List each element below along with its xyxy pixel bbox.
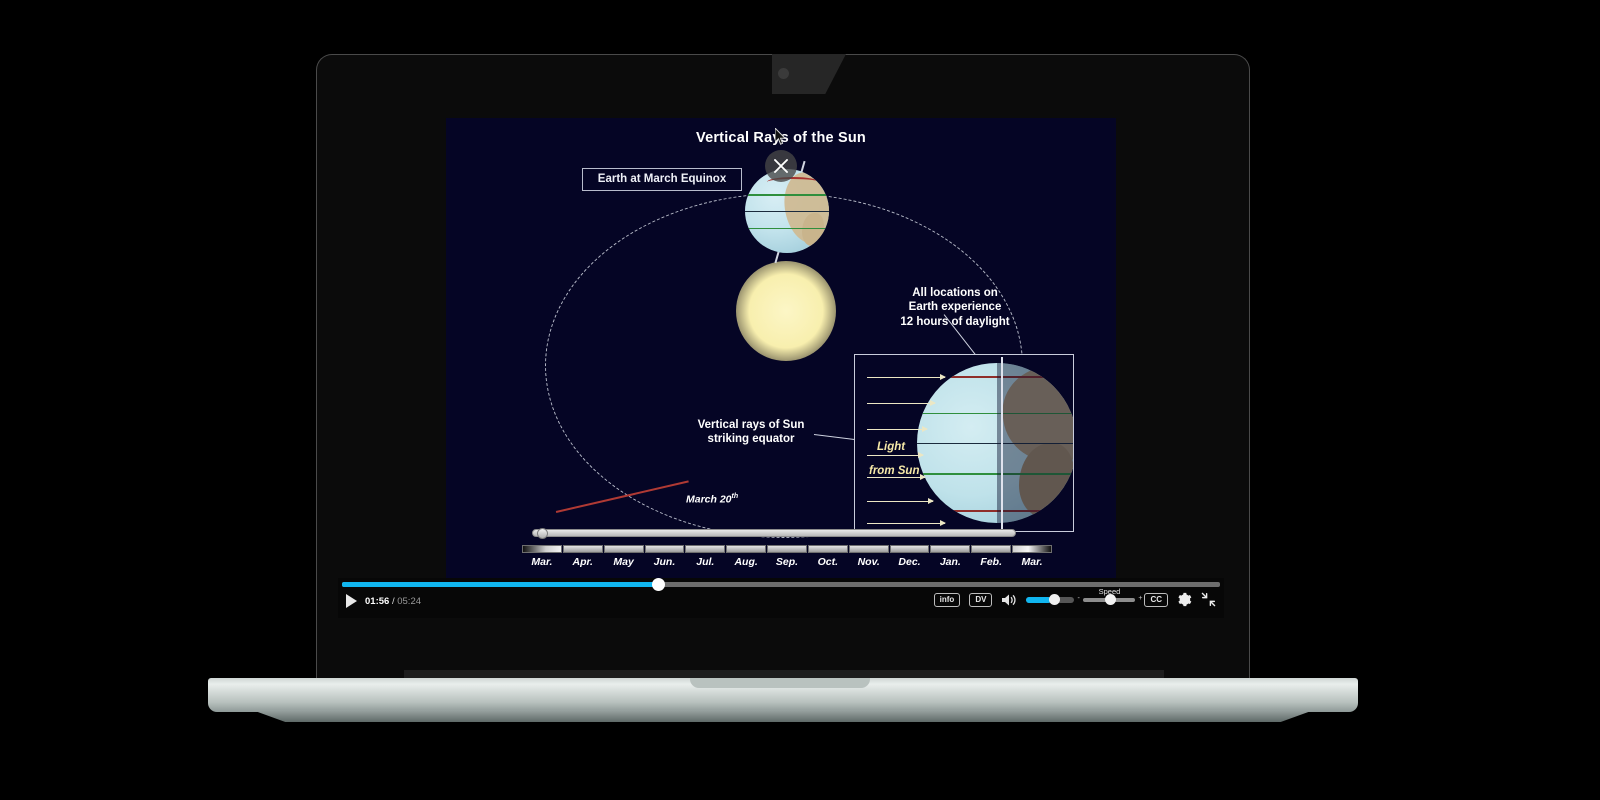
- time-total: 05:24: [397, 596, 421, 607]
- sun-graphic: [736, 261, 836, 361]
- sun-ray: [867, 455, 923, 456]
- month-label: Jan.: [930, 556, 970, 568]
- volume-slider-knob[interactable]: [1049, 594, 1060, 605]
- month-cell[interactable]: Jun.: [645, 545, 685, 568]
- progress-bar-knob[interactable]: [652, 578, 665, 591]
- inset-globe: [917, 363, 1074, 523]
- month-cell[interactable]: Sep.: [767, 545, 807, 568]
- month-label: May: [604, 556, 644, 568]
- speed-control: Speed - +: [1083, 598, 1135, 602]
- month-bar: [522, 545, 562, 553]
- sun-ray: [867, 377, 945, 378]
- month-bar: [685, 545, 725, 553]
- tropic-line-south: [745, 228, 829, 229]
- month-cell[interactable]: Jan.: [930, 545, 970, 568]
- sun-ray: [867, 501, 933, 502]
- month-bar: [563, 545, 603, 553]
- month-label: Jun.: [645, 556, 685, 568]
- month-bar: [971, 545, 1011, 553]
- month-label: Oct.: [808, 556, 848, 568]
- month-bar: [930, 545, 970, 553]
- month-strip: Mar. Apr. May Jun. Jul. Aug. Sep. Oct. N…: [522, 545, 1052, 568]
- player-left-group: 01:56 / 05:24: [346, 594, 421, 608]
- earth-globe-orbit: [745, 169, 829, 253]
- month-cell[interactable]: Apr.: [563, 545, 603, 568]
- month-bar: [645, 545, 685, 553]
- landmass-south: [802, 213, 824, 247]
- time-display: 01:56 / 05:24: [365, 596, 421, 607]
- camera-icon: [778, 68, 789, 79]
- progress-bar-filled: [342, 582, 661, 587]
- gear-icon[interactable]: [1177, 592, 1192, 607]
- light-label-line2: from Sun: [869, 465, 919, 477]
- month-bar: [604, 545, 644, 553]
- close-icon: [774, 159, 788, 173]
- month-label: Nov.: [849, 556, 889, 568]
- volume-slider[interactable]: [1026, 597, 1074, 603]
- month-label: Dec.: [890, 556, 930, 568]
- month-cell[interactable]: Oct.: [808, 545, 848, 568]
- screenshot-stage: Vertical Rays of the Sun Earth at March …: [0, 0, 1600, 800]
- month-cell[interactable]: Feb.: [971, 545, 1011, 568]
- month-label: Mar.: [522, 556, 562, 568]
- terminator-shading: [997, 363, 1074, 523]
- video-canvas: Vertical Rays of the Sun Earth at March …: [446, 118, 1116, 578]
- month-bar: [726, 545, 766, 553]
- annotation-vertical-rays: Vertical rays of Sun striking equator: [676, 418, 826, 447]
- month-label: Aug.: [726, 556, 766, 568]
- month-cell[interactable]: Mar.: [1012, 545, 1052, 568]
- fullscreen-exit-icon[interactable]: [1201, 592, 1216, 607]
- equator-line: [745, 211, 829, 212]
- month-bar: [808, 545, 848, 553]
- laptop-base-notch: [690, 678, 870, 688]
- video-player-controls: 01:56 / 05:24 info DV Speed - +: [338, 578, 1224, 618]
- laptop-base-lip: [230, 710, 1336, 722]
- player-right-group: info DV Speed - + CC: [934, 592, 1216, 607]
- volume-slider-fill: [1026, 597, 1051, 603]
- sun-ray: [867, 477, 925, 478]
- month-label: Sep.: [767, 556, 807, 568]
- timeline-marker-label: March 20th: [686, 493, 738, 506]
- inset-diagram: Light from Sun: [854, 354, 1074, 532]
- time-current: 01:56: [365, 596, 389, 607]
- month-cell[interactable]: Jul.: [685, 545, 725, 568]
- month-bar: [890, 545, 930, 553]
- month-cell[interactable]: Dec.: [890, 545, 930, 568]
- volume-icon[interactable]: [1001, 593, 1017, 607]
- sun-ray: [867, 523, 945, 524]
- light-label-line1: Light: [877, 441, 905, 453]
- close-button[interactable]: [765, 150, 797, 182]
- month-bar: [767, 545, 807, 553]
- month-label: Apr.: [563, 556, 603, 568]
- year-slider-knob[interactable]: [537, 528, 548, 539]
- speed-slider-track[interactable]: - +: [1083, 598, 1135, 602]
- month-cell[interactable]: Nov.: [849, 545, 889, 568]
- mouse-cursor: [775, 128, 787, 146]
- cc-button[interactable]: CC: [1144, 593, 1168, 607]
- month-bar: [1012, 545, 1052, 553]
- month-cell[interactable]: Aug.: [726, 545, 766, 568]
- sun-ray: [867, 403, 935, 404]
- month-bar: [849, 545, 889, 553]
- sun-ray: [867, 429, 927, 430]
- play-icon[interactable]: [346, 594, 357, 608]
- globe-sphere: [745, 169, 829, 253]
- speed-tick-minus: -: [1077, 595, 1079, 602]
- timeline-marker-text: March 20: [686, 494, 732, 506]
- month-cell[interactable]: May: [604, 545, 644, 568]
- info-button[interactable]: info: [934, 593, 961, 607]
- speed-slider-knob[interactable]: [1105, 594, 1116, 605]
- timeline-marker-suffix: th: [732, 493, 739, 500]
- inset-axis-line: [1001, 357, 1003, 531]
- month-cell[interactable]: Mar.: [522, 545, 562, 568]
- year-slider-track[interactable]: [532, 529, 1016, 537]
- month-label: Feb.: [971, 556, 1011, 568]
- annotation-daylight: All locations on Earth experience 12 hou…: [870, 286, 1040, 329]
- month-label: Jul.: [685, 556, 725, 568]
- speed-tick-plus: +: [1138, 595, 1142, 602]
- equinox-label: Earth at March Equinox: [582, 168, 742, 191]
- tropic-line-north: [745, 194, 829, 195]
- month-label: Mar.: [1012, 556, 1052, 568]
- dv-button[interactable]: DV: [969, 593, 992, 607]
